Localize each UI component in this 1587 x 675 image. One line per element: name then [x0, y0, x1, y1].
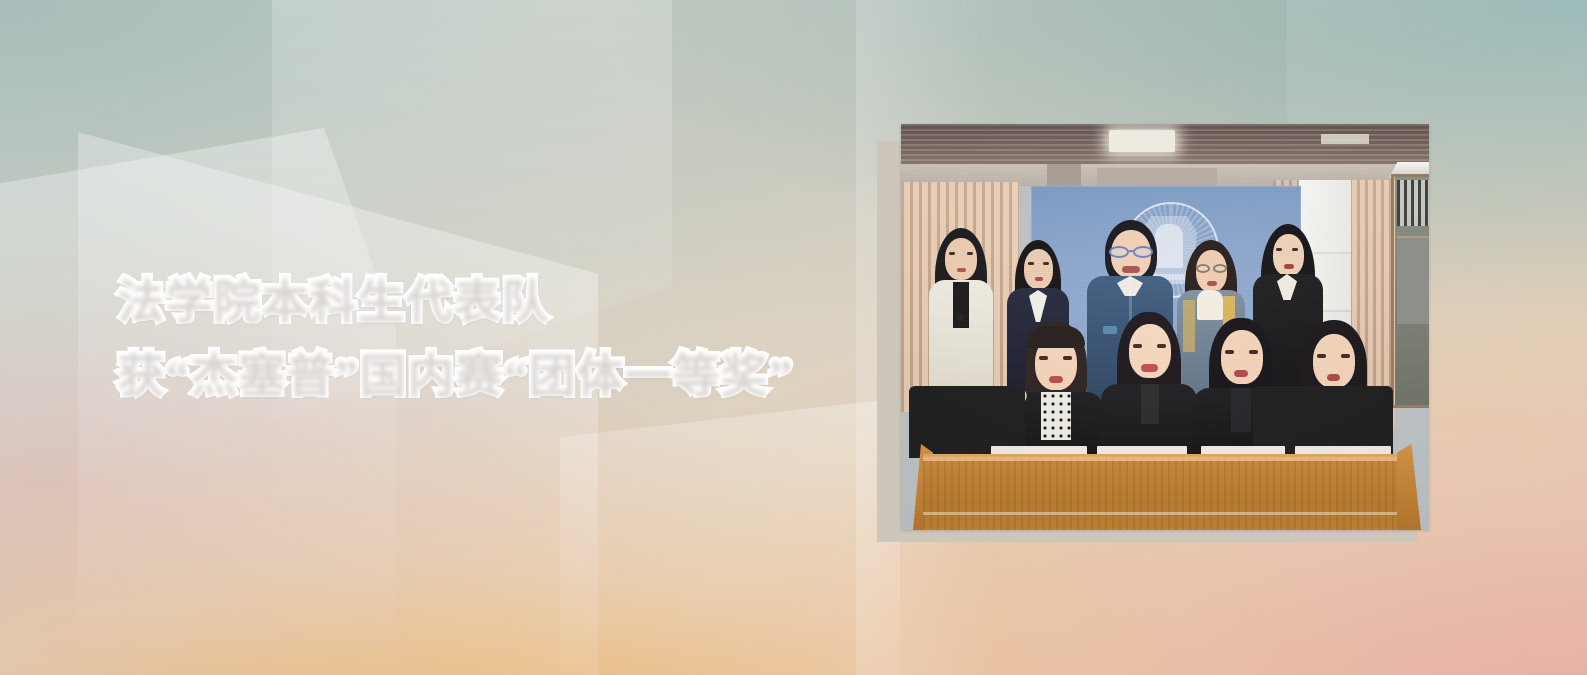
headline-block: 法学院本科生代表队 获“杰塞普”国内赛“团体一等奖” [118, 266, 838, 410]
group-photo [901, 124, 1429, 530]
photo-vignette [901, 124, 1429, 530]
banner-hero: 法学院本科生代表队 获“杰塞普”国内赛“团体一等奖” [0, 0, 1587, 675]
headline-line-2-text: 获“杰塞普”国内赛“团体一等奖” [118, 349, 794, 400]
photo-block [877, 124, 1429, 542]
headline-line-1-text: 法学院本科生代表队 [118, 275, 550, 326]
headline-line-1: 法学院本科生代表队 [118, 266, 838, 336]
headline-line-2: 获“杰塞普”国内赛“团体一等奖” [118, 340, 838, 410]
